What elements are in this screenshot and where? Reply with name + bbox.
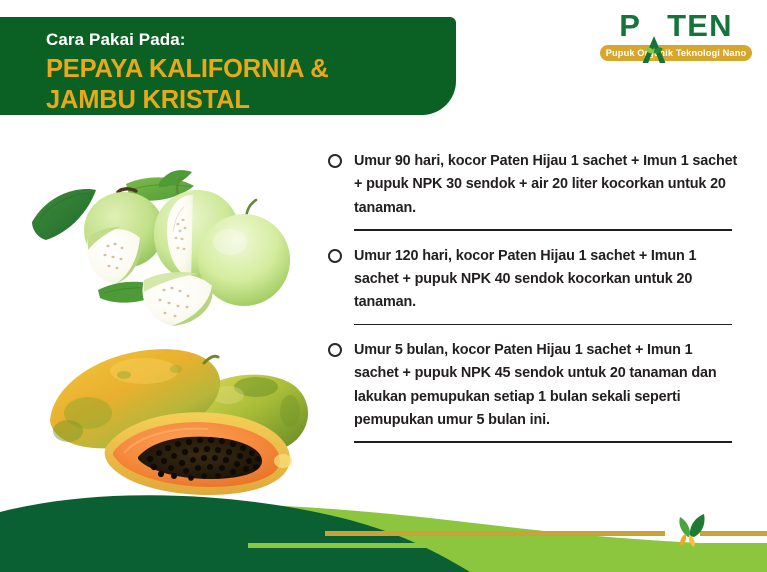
- leaf-monogram-icon: [641, 34, 667, 65]
- footer-green-line: [248, 543, 767, 548]
- instruction-divider: [354, 441, 732, 443]
- footer-decoration: [0, 482, 767, 572]
- instruction-item: Umur 5 bulan, kocor Paten Hijau 1 sachet…: [328, 339, 740, 443]
- ring-bullet-icon: [328, 154, 342, 168]
- instruction-text: Umur 120 hari, kocor Paten Hijau 1 sache…: [354, 245, 740, 315]
- instruction-divider: [354, 229, 732, 231]
- header-banner: Cara Pakai Pada: PEPAYA KALIFORNIA & JAM…: [0, 17, 456, 115]
- logo-tagline: Pupuk Organik Teknologi Nano: [600, 45, 753, 61]
- brand-logo: P TEN Pupuk Organik Teknologi Nano: [597, 10, 755, 61]
- ring-bullet-icon: [328, 249, 342, 263]
- logo-wordmark-suffix: TEN: [667, 8, 733, 43]
- sprout-leaf-icon: [679, 514, 704, 547]
- page-title-line-1: PEPAYA KALIFORNIA &: [46, 54, 456, 85]
- instruction-text: Umur 5 bulan, kocor Paten Hijau 1 sachet…: [354, 339, 740, 432]
- logo-wordmark: P TEN: [619, 10, 733, 41]
- ring-bullet-icon: [328, 343, 342, 357]
- papaya-stem: [204, 356, 218, 363]
- pepaya-kalifornia-photo: [28, 335, 328, 505]
- header-eyebrow: Cara Pakai Pada:: [46, 30, 456, 50]
- instruction-list: Umur 90 hari, kocor Paten Hijau 1 sachet…: [328, 150, 740, 457]
- logo-wordmark-prefix: P: [619, 8, 641, 43]
- footer-gold-line-right: [700, 531, 767, 536]
- instruction-text: Umur 90 hari, kocor Paten Hijau 1 sachet…: [354, 150, 740, 220]
- page-title-line-2: JAMBU KRISTAL: [46, 85, 456, 116]
- jambu-kristal-photo: [26, 160, 316, 330]
- instruction-divider: [354, 324, 732, 326]
- instruction-item: Umur 120 hari, kocor Paten Hijau 1 sache…: [328, 245, 740, 326]
- guava-stem-left: [118, 189, 136, 192]
- footer-gold-line-left: [325, 531, 665, 536]
- instruction-item: Umur 90 hari, kocor Paten Hijau 1 sachet…: [328, 150, 740, 231]
